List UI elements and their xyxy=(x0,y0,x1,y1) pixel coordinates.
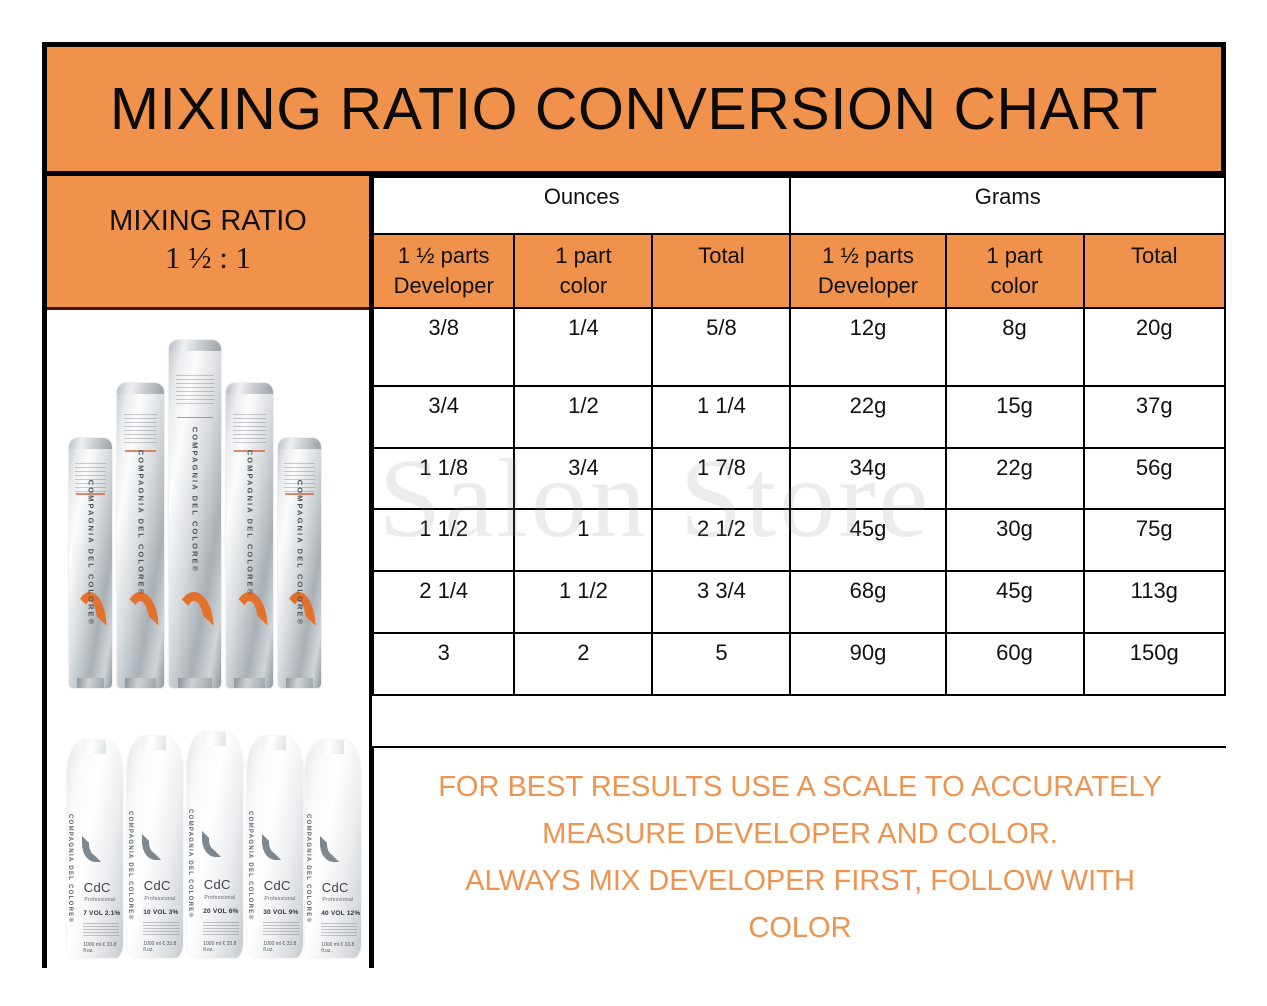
developer-bottle: COMPAGNIA DEL COLORE® CdC Professional 7… xyxy=(67,740,123,958)
column-header-line2: Developer xyxy=(791,271,944,301)
table-cell: 1 xyxy=(514,509,652,571)
table-row: 2 1/4 1 1/2 3 3/4 68g 45g 113g xyxy=(373,571,1225,633)
table-unit-header-row: Ounces Grams xyxy=(373,177,1225,234)
bottle-product-name: CdC xyxy=(204,877,231,892)
table-cell: 3/8 xyxy=(373,308,514,386)
table-cell: 45g xyxy=(790,509,945,571)
conversion-table: Ounces Grams 1 ½ parts Developer 1 part … xyxy=(372,176,1226,696)
bottle-logo-icon xyxy=(202,831,221,857)
unit-group-grams: Grams xyxy=(790,177,1225,234)
bottle-volume-strength: 40 VOL 12% xyxy=(321,910,360,917)
developer-bottle: COMPAGNIA DEL COLORE® CdC Professional 1… xyxy=(127,736,183,958)
table-cell: 2 1/2 xyxy=(652,509,790,571)
bottle-net-volume: 1000 ml € 33.8 fl.oz. xyxy=(83,942,123,954)
table-cell: 22g xyxy=(946,448,1084,509)
bottle-brand-label: COMPAGNIA DEL COLORE® xyxy=(187,809,193,918)
bottle-brand-label: COMPAGNIA DEL COLORE® xyxy=(305,814,311,923)
column-header: 1 part color xyxy=(946,234,1084,308)
tube-copy xyxy=(176,375,213,405)
column-header-line1: 1 ½ parts xyxy=(791,241,944,271)
color-tube: COMPAGNIA DEL COLORE® xyxy=(278,438,321,688)
bottle-fineprint xyxy=(263,922,298,936)
developer-bottle: COMPAGNIA DEL COLORE® CdC Professional 3… xyxy=(247,736,303,958)
table-cell: 12g xyxy=(790,308,945,386)
table-cell: 2 1/4 xyxy=(373,571,514,633)
column-header-line1: 1 ½ parts xyxy=(374,241,513,271)
bottle-product-name: CdC xyxy=(264,878,291,893)
note-line-1: FOR BEST RESULTS USE A SCALE TO ACCURATE… xyxy=(438,771,1162,803)
developer-bottle: COMPAGNIA DEL COLORE® CdC Professional 4… xyxy=(305,740,361,958)
tube-brand-label: COMPAGNIA DEL COLORE® xyxy=(86,480,95,627)
table-cell: 60g xyxy=(946,633,1084,695)
table-cell: 15g xyxy=(946,386,1084,448)
table-cell: 113g xyxy=(1084,571,1225,633)
poster-canvas: MIXING RATIO CONVERSION CHART MIXING RAT… xyxy=(0,0,1267,1006)
note-line-4: COLOR xyxy=(748,912,851,944)
column-header-line1: Total xyxy=(1085,241,1224,271)
table-row: 3/8 1/4 5/8 12g 8g 20g xyxy=(373,308,1225,386)
bottle-net-volume: 1000 ml € 33.8 fl.oz. xyxy=(321,942,361,954)
color-tube: COMPAGNIA DEL COLORE® xyxy=(69,438,112,688)
bottle-brand-label: COMPAGNIA DEL COLORE® xyxy=(67,814,73,923)
page-title: MIXING RATIO CONVERSION CHART xyxy=(110,75,1158,143)
bottle-subtitle: Professional xyxy=(144,896,175,902)
tube-cap xyxy=(286,678,314,688)
note-line-3: ALWAYS MIX DEVELOPER FIRST, FOLLOW WITH xyxy=(465,865,1135,897)
table-cell: 150g xyxy=(1084,633,1225,695)
column-header: 1 ½ parts Developer xyxy=(790,234,945,308)
bottle-logo-icon xyxy=(142,834,161,860)
color-tube: COMPAGNIA DEL COLORE® xyxy=(169,340,221,688)
table-cell: 1 1/2 xyxy=(373,509,514,571)
bottle-volume-strength: 30 VOL 9% xyxy=(263,909,298,916)
bottle-subtitle: Professional xyxy=(204,895,235,901)
table-column-header-row: 1 ½ parts Developer 1 part color Total xyxy=(373,234,1225,308)
bottle-neck xyxy=(202,732,227,746)
color-tubes-photo: COMPAGNIA DEL COLORE® COMPAGNIA DEL COLO… xyxy=(47,310,369,700)
bottle-subtitle: Professional xyxy=(322,897,353,903)
bottle-logo-icon xyxy=(320,836,339,862)
tube-brand-label: COMPAGNIA DEL COLORE® xyxy=(295,480,304,627)
table-cell: 2 xyxy=(514,633,652,695)
product-images: COMPAGNIA DEL COLORE® COMPAGNIA DEL COLO… xyxy=(47,310,369,968)
table-cell: 68g xyxy=(790,571,945,633)
best-results-note: FOR BEST RESULTS USE A SCALE TO ACCURATE… xyxy=(372,746,1226,968)
table-cell: 1 1/8 xyxy=(373,448,514,509)
color-tube: COMPAGNIA DEL COLORE® xyxy=(117,383,164,688)
table-cell: 20g xyxy=(1084,308,1225,386)
bottle-net-volume: 1000 ml € 33.8 fl.oz. xyxy=(203,941,243,953)
tube-swoosh-icon xyxy=(122,591,158,626)
mixing-ratio-label: MIXING RATIO xyxy=(109,205,307,238)
tube-cap xyxy=(77,678,105,688)
tube-brand-label: COMPAGNIA DEL COLORE® xyxy=(136,450,145,597)
left-column: MIXING RATIO 1 ½ : 1 COMPAGNIA DEL COLOR… xyxy=(47,176,372,968)
tube-brand-label: COMPAGNIA DEL COLORE® xyxy=(245,450,254,597)
table-cell: 37g xyxy=(1084,386,1225,448)
column-header-line2: Developer xyxy=(374,271,513,301)
column-header: 1 part color xyxy=(514,234,652,308)
developer-bottle: COMPAGNIA DEL COLORE® CdC Professional 2… xyxy=(187,732,243,958)
tube-brand-label: COMPAGNIA DEL COLORE® xyxy=(191,427,200,574)
body-area: MIXING RATIO 1 ½ : 1 COMPAGNIA DEL COLOR… xyxy=(47,176,1221,968)
poster-frame: MIXING RATIO CONVERSION CHART MIXING RAT… xyxy=(42,42,1226,968)
table-row: 3/4 1/2 1 1/4 22g 15g 37g xyxy=(373,386,1225,448)
bottle-brand-label: COMPAGNIA DEL COLORE® xyxy=(127,811,133,920)
tube-crimp xyxy=(169,340,221,351)
column-header-line2: color xyxy=(947,271,1083,301)
column-header-line1: 1 part xyxy=(515,241,651,271)
table-row: 1 1/8 3/4 1 7/8 34g 22g 56g xyxy=(373,448,1225,509)
bottle-brand-label: COMPAGNIA DEL COLORE® xyxy=(247,811,253,920)
table-cell: 56g xyxy=(1084,448,1225,509)
bottle-volume-strength: 7 VOL 2.1% xyxy=(83,910,120,917)
table-cell: 45g xyxy=(946,571,1084,633)
table-cell: 3/4 xyxy=(373,386,514,448)
table-cell: 90g xyxy=(790,633,945,695)
bottle-neck xyxy=(142,736,167,750)
tube-copy xyxy=(233,414,267,444)
tube-cap xyxy=(178,678,211,688)
table-cell: 1/4 xyxy=(514,308,652,386)
table-cell: 5/8 xyxy=(652,308,790,386)
bottle-net-volume: 1000 ml € 33.8 fl.oz. xyxy=(143,941,183,953)
table-cell: 1/2 xyxy=(514,386,652,448)
table-cell: 30g xyxy=(946,509,1084,571)
table-cell: 22g xyxy=(790,386,945,448)
developer-bottles-photo: COMPAGNIA DEL COLORE® CdC Professional 7… xyxy=(47,698,369,968)
table-cell: 75g xyxy=(1084,509,1225,571)
unit-group-ounces: Ounces xyxy=(373,177,790,234)
bottle-net-volume: 1000 ml € 33.8 fl.oz. xyxy=(263,941,303,953)
bottle-neck xyxy=(320,740,345,754)
note-line-2: MEASURE DEVELOPER AND COLOR. xyxy=(542,818,1058,850)
bottle-subtitle: Professional xyxy=(84,897,115,903)
bottle-fineprint xyxy=(321,923,356,937)
table-cell: 3 3/4 xyxy=(652,571,790,633)
table-cell: 1 1/2 xyxy=(514,571,652,633)
bottle-fineprint xyxy=(203,922,238,936)
table-cell: 1 1/4 xyxy=(652,386,790,448)
column-header: 1 ½ parts Developer xyxy=(373,234,514,308)
tube-crimp xyxy=(226,383,273,394)
column-header-line1: 1 part xyxy=(947,241,1083,271)
tube-cap xyxy=(125,678,155,688)
table-cell: 34g xyxy=(790,448,945,509)
best-results-text: FOR BEST RESULTS USE A SCALE TO ACCURATE… xyxy=(416,764,1184,952)
color-tube: COMPAGNIA DEL COLORE® xyxy=(226,383,273,688)
bottle-fineprint xyxy=(143,922,178,936)
column-header: Total xyxy=(652,234,790,308)
table-cell: 3/4 xyxy=(514,448,652,509)
tube-crimp xyxy=(69,438,112,449)
bottle-product-name: CdC xyxy=(84,880,111,895)
bottle-neck xyxy=(262,736,287,750)
mixing-ratio-value: 1 ½ : 1 xyxy=(165,239,251,278)
tube-cap xyxy=(234,678,264,688)
table-cell: 8g xyxy=(946,308,1084,386)
bottle-subtitle: Professional xyxy=(264,896,295,902)
tube-swoosh-icon xyxy=(175,591,215,626)
bottle-logo-icon xyxy=(262,834,281,860)
table-row: 3 2 5 90g 60g 150g xyxy=(373,633,1225,695)
bottle-volume-strength: 20 VOL 6% xyxy=(203,908,238,915)
bottle-neck xyxy=(82,740,107,754)
title-bar: MIXING RATIO CONVERSION CHART xyxy=(47,47,1221,176)
column-header-line1: Total xyxy=(653,241,789,271)
bottle-fineprint xyxy=(83,923,118,937)
tube-crimp xyxy=(117,383,164,394)
mixing-ratio-panel: MIXING RATIO 1 ½ : 1 xyxy=(47,176,369,310)
table-cell: 3 xyxy=(373,633,514,695)
bottle-product-name: CdC xyxy=(322,880,349,895)
table-row: 1 1/2 1 2 1/2 45g 30g 75g xyxy=(373,509,1225,571)
bottle-product-name: CdC xyxy=(144,878,171,893)
column-header-line2: color xyxy=(515,271,651,301)
tube-crimp xyxy=(278,438,321,449)
table-cell: 5 xyxy=(652,633,790,695)
tube-swoosh-icon xyxy=(231,591,267,626)
bottle-logo-icon xyxy=(82,836,101,862)
table-cell: 1 7/8 xyxy=(652,448,790,509)
column-header: Total xyxy=(1084,234,1225,308)
tube-copy xyxy=(124,414,158,444)
bottle-volume-strength: 10 VOL 3% xyxy=(143,909,178,916)
tube-rule xyxy=(177,417,212,419)
